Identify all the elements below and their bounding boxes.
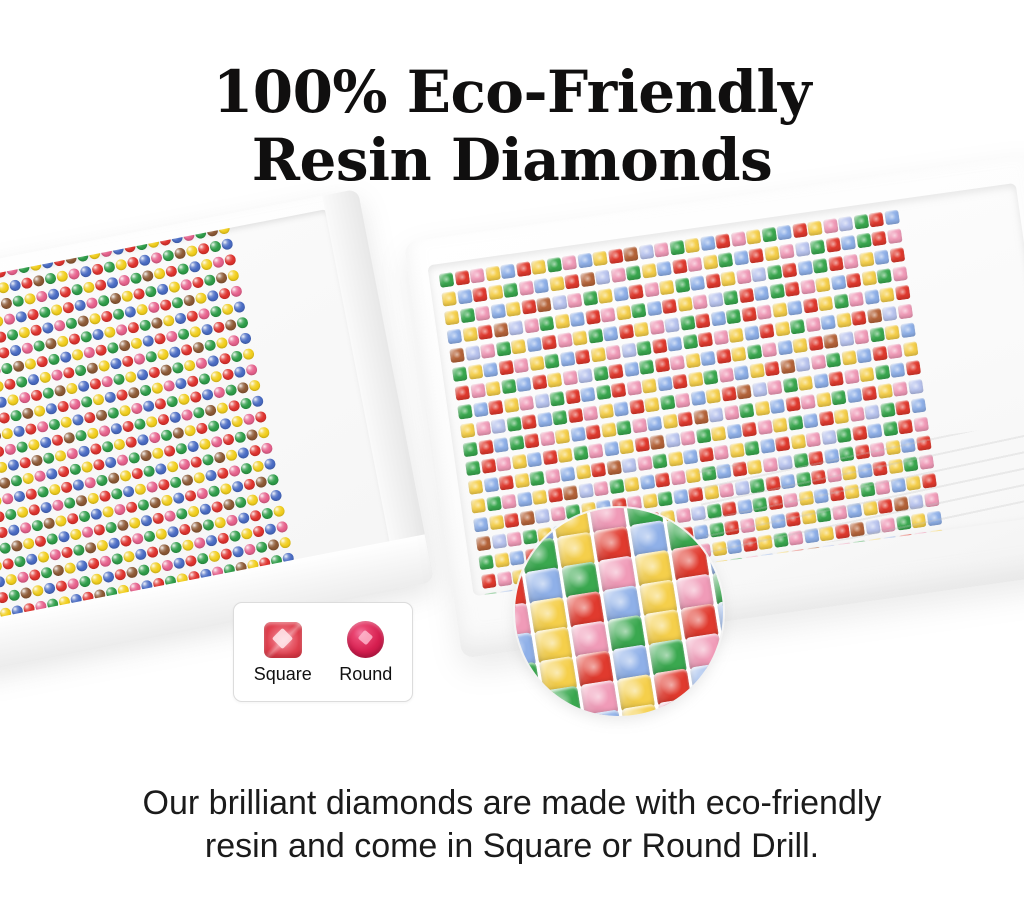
drill-bead <box>137 433 150 446</box>
drill-bead <box>792 338 808 354</box>
drill-bead <box>908 379 924 395</box>
drill-bead <box>729 442 745 458</box>
drill-bead <box>695 428 711 444</box>
drill-bead <box>820 314 836 330</box>
drill-bead <box>751 382 767 398</box>
drill-bead <box>158 543 171 556</box>
drill-bead <box>514 473 530 489</box>
drill-bead <box>684 238 700 254</box>
drill-bead <box>102 571 115 584</box>
drill-bead <box>51 369 64 382</box>
drill-bead <box>18 391 31 404</box>
drill-bead <box>694 692 723 716</box>
drill-bead <box>77 315 90 328</box>
drill-bead <box>24 292 37 305</box>
drill-bead <box>754 400 770 416</box>
drill-bead <box>515 691 546 716</box>
drill-bead <box>114 568 127 581</box>
drill-bead <box>718 252 734 268</box>
drill-bead <box>236 381 249 394</box>
drill-bead <box>748 248 764 264</box>
caption-line-1: Our brilliant diamonds are made with eco… <box>143 784 882 822</box>
drill-bead <box>792 222 808 238</box>
drill-bead <box>529 470 545 486</box>
drill-bead <box>30 324 43 337</box>
drill-bead <box>638 244 654 260</box>
product-description: Our brilliant diamonds are made with eco… <box>0 782 1024 868</box>
drill-bead <box>128 517 141 530</box>
drill-bead <box>260 442 273 455</box>
drill-bead <box>833 293 849 309</box>
drill-bead <box>480 458 496 474</box>
round-gem-icon <box>347 621 384 658</box>
drill-bead <box>662 413 678 429</box>
drill-bead <box>524 433 540 449</box>
drill-bead <box>767 379 783 395</box>
drill-bead <box>25 488 38 501</box>
drill-bead <box>547 487 563 503</box>
drill-bead <box>9 344 22 357</box>
drill-bead <box>16 441 29 454</box>
drill-bead <box>621 342 637 358</box>
drill-bead <box>161 559 174 572</box>
drill-bead <box>220 548 233 561</box>
drill-bead <box>475 420 491 436</box>
drill-bead <box>147 301 160 314</box>
drill-bead <box>20 587 33 600</box>
drill-bead <box>659 395 675 411</box>
drill-bead <box>733 250 749 266</box>
drill-bead <box>572 445 588 461</box>
drill-bead <box>15 376 28 389</box>
drill-bead <box>830 275 846 291</box>
drill-bead <box>784 281 800 297</box>
drill-bead <box>470 383 486 399</box>
drill-bead <box>856 348 872 364</box>
drill-bead <box>57 400 70 413</box>
drill-bead <box>867 423 883 439</box>
drill-bead <box>675 392 691 408</box>
drill-bead <box>10 474 23 487</box>
drill-bead <box>603 326 619 342</box>
drill-bead <box>643 282 659 298</box>
drill-bead <box>895 400 911 416</box>
drill-bead <box>59 286 72 299</box>
drill-bead <box>69 528 82 541</box>
drill-bead <box>667 451 683 467</box>
drill-bead <box>454 385 470 401</box>
drill-bead <box>47 288 60 301</box>
drill-bead <box>120 535 133 548</box>
drill-bead <box>169 476 182 489</box>
drill-bead <box>157 478 170 491</box>
drill-bead <box>90 508 103 521</box>
drill-bead <box>165 330 178 343</box>
drill-bead <box>874 364 890 380</box>
drill-bead <box>225 384 238 397</box>
drill-bead <box>89 312 102 325</box>
drill-bead <box>216 402 229 415</box>
drill-bead <box>187 440 200 453</box>
drill-bead <box>55 580 68 593</box>
drill-bead <box>457 404 473 420</box>
drill-bead <box>209 240 222 253</box>
drill-bead <box>186 375 199 388</box>
drill-bead <box>751 267 767 283</box>
drill-bead <box>868 212 884 228</box>
drill-bead <box>91 263 104 276</box>
drill-bead <box>457 289 473 305</box>
drill-bead <box>136 303 149 316</box>
drill-bead <box>249 509 262 522</box>
drill-bead <box>237 512 250 525</box>
drill-bead <box>889 247 905 263</box>
drill-bead <box>567 408 583 424</box>
drill-bead <box>48 483 61 496</box>
drill-bead <box>702 254 718 270</box>
drill-bead <box>138 254 151 267</box>
drill-bead <box>233 301 246 314</box>
drill-bead <box>98 359 111 372</box>
drill-bead <box>475 305 491 321</box>
drill-bead <box>82 281 95 294</box>
drill-bead <box>4 443 17 456</box>
drill-bead <box>866 308 882 324</box>
drill-bead <box>641 378 657 394</box>
drill-bead <box>794 241 810 257</box>
drill-bead <box>790 319 806 335</box>
drill-bead <box>761 342 777 358</box>
drill-bead <box>876 268 892 284</box>
drill-bead <box>9 279 22 292</box>
drill-bead <box>631 303 647 319</box>
drill-bead <box>231 480 244 493</box>
drill-bead <box>685 353 701 369</box>
drill-bead <box>554 428 570 444</box>
drill-bead <box>184 489 197 502</box>
drill-bead <box>48 418 61 431</box>
drill-bead <box>239 332 252 345</box>
drill-bead <box>48 353 61 366</box>
drill-bead <box>531 374 547 390</box>
drill-bead <box>276 520 289 533</box>
drill-bead <box>207 355 220 368</box>
caption-line-2: resin and come in Square or Round Drill. <box>0 825 1024 868</box>
drill-bead <box>86 362 99 375</box>
drill-bead <box>72 544 85 557</box>
drill-bead <box>270 489 283 502</box>
drill-bead <box>508 320 524 336</box>
drill-bead <box>118 274 131 287</box>
drill-bead <box>593 481 609 497</box>
drill-bead <box>503 397 519 413</box>
drill-bead <box>597 288 613 304</box>
drill-bead <box>212 321 225 334</box>
drill-bead <box>879 287 895 303</box>
drill-bead <box>818 296 834 312</box>
drill-bead <box>715 233 731 249</box>
drill-bead <box>707 292 723 308</box>
drill-bead <box>764 246 780 262</box>
drill-bead <box>162 314 175 327</box>
drill-bead <box>61 546 74 559</box>
drill-bead <box>237 447 250 460</box>
drill-bead <box>164 510 177 523</box>
drill-bead <box>109 357 122 370</box>
drill-bead <box>671 259 687 275</box>
round-drill-tray <box>0 189 434 671</box>
drill-bead <box>75 559 88 572</box>
drill-bead <box>60 416 73 429</box>
drill-bead <box>913 417 929 433</box>
drill-bead <box>128 451 141 464</box>
drill-bead <box>821 429 837 445</box>
drill-bead <box>183 359 196 372</box>
drill-bead <box>89 443 102 456</box>
drill-bead <box>725 309 741 325</box>
drill-bead <box>166 460 179 473</box>
drill-bead <box>721 386 737 402</box>
drill-bead <box>172 492 185 505</box>
drill-bead <box>96 474 109 487</box>
drill-bead <box>488 399 504 415</box>
drill-bead <box>34 535 47 548</box>
drill-bead <box>607 248 623 264</box>
drill-bead <box>229 530 242 543</box>
drill-bead <box>155 528 168 541</box>
drill-bead <box>130 272 143 285</box>
drill-bead <box>646 301 662 317</box>
drill-bead <box>487 284 503 300</box>
drill-bead <box>255 476 268 489</box>
drill-bead <box>444 310 460 326</box>
drill-bead <box>447 329 463 345</box>
drill-bead <box>649 434 665 450</box>
drill-bead <box>485 266 501 282</box>
drill-bead <box>473 517 489 533</box>
drill-bead <box>900 322 916 338</box>
drill-bead <box>168 281 181 294</box>
drill-bead <box>498 475 514 491</box>
drill-bead <box>665 432 681 448</box>
drill-bead <box>89 377 102 390</box>
drill-bead <box>58 530 71 543</box>
drill-bead <box>92 393 105 406</box>
drill-bead <box>526 452 542 468</box>
drill-bead <box>882 421 898 437</box>
drill-bead <box>50 304 63 317</box>
drill-bead <box>802 298 818 314</box>
drill-bead <box>13 490 26 503</box>
drill-bead <box>892 381 908 397</box>
drill-bead <box>539 316 555 332</box>
drill-bead <box>723 290 739 306</box>
drill-bead <box>240 462 253 475</box>
drill-bead <box>695 313 711 329</box>
drill-bead <box>193 537 206 550</box>
drill-bead <box>864 404 880 420</box>
drill-bead <box>757 419 773 435</box>
drill-bead <box>705 273 721 289</box>
drill-bead <box>116 389 129 402</box>
drill-bead <box>121 290 134 303</box>
drill-bead <box>37 551 50 564</box>
drill-bead <box>743 325 759 341</box>
drill-bead <box>615 305 631 321</box>
drill-bead <box>562 485 578 501</box>
drill-bead <box>687 256 703 272</box>
drill-bead <box>483 477 499 493</box>
drill-bead <box>192 276 205 289</box>
drill-bead <box>189 325 202 338</box>
drill-bead <box>22 472 35 485</box>
drill-bead <box>80 395 93 408</box>
drill-bead <box>649 319 665 335</box>
drill-bead <box>785 396 801 412</box>
drill-bead <box>240 527 253 540</box>
drill-bead <box>87 557 100 570</box>
drill-bead <box>107 472 120 485</box>
drill-bead <box>214 516 227 529</box>
drill-bead <box>825 352 841 368</box>
drill-bead <box>808 335 824 351</box>
drill-bead <box>490 303 506 319</box>
drill-bead <box>677 411 693 427</box>
drill-bead <box>203 274 216 287</box>
drill-shape-legend[interactable]: Square Round <box>233 602 413 702</box>
drill-bead <box>143 465 156 478</box>
drill-bead <box>840 235 856 251</box>
drill-bead <box>162 249 175 262</box>
legend-item-round[interactable]: Round <box>339 621 392 683</box>
drill-bead <box>95 344 108 357</box>
drill-bead <box>116 454 129 467</box>
drill-bead <box>700 235 716 251</box>
drill-bead <box>634 437 650 453</box>
drill-bead <box>774 321 790 337</box>
drill-bead <box>33 340 46 353</box>
drill-bead <box>246 494 259 507</box>
drill-bead <box>633 321 649 337</box>
drill-bead <box>708 407 724 423</box>
drill-bead <box>598 403 614 419</box>
drill-bead <box>618 324 634 340</box>
drill-bead <box>175 442 188 455</box>
drill-bead <box>146 546 159 559</box>
drill-bead <box>605 345 621 361</box>
drill-bead <box>496 571 512 587</box>
drill-bead <box>177 328 190 341</box>
drill-bead <box>139 319 152 332</box>
drill-bead <box>483 362 499 378</box>
drill-bead <box>168 346 181 359</box>
drill-bead <box>583 405 599 421</box>
drill-bead <box>36 355 49 368</box>
drill-bead <box>712 568 723 607</box>
drill-bead <box>113 373 126 386</box>
drill-bead <box>519 395 535 411</box>
drill-bead <box>485 381 501 397</box>
drill-bead <box>723 405 739 421</box>
drill-bead <box>849 406 865 422</box>
drill-bead <box>193 471 206 484</box>
drill-bead <box>25 553 38 566</box>
drill-bead <box>861 385 877 401</box>
drill-bead <box>85 297 98 310</box>
drill-bead <box>180 343 193 356</box>
drill-bead <box>74 299 87 312</box>
drill-bead <box>772 417 788 433</box>
drill-bead <box>130 402 143 415</box>
drill-bead <box>65 382 78 395</box>
drill-bead <box>109 292 122 305</box>
drill-bead <box>232 545 245 558</box>
drill-bead <box>6 328 19 341</box>
drill-bead <box>552 410 568 426</box>
drill-bead <box>7 524 20 537</box>
drill-bead <box>505 301 521 317</box>
drill-bead <box>215 271 228 284</box>
drill-bead <box>564 274 580 290</box>
drill-bead <box>243 478 256 491</box>
drill-bead <box>590 347 606 363</box>
drill-bead <box>24 423 37 436</box>
legend-item-square[interactable]: Square <box>254 622 312 683</box>
drill-bead <box>654 357 670 373</box>
drill-bead <box>178 458 191 471</box>
drill-bead <box>145 415 158 428</box>
drill-bead <box>40 566 53 579</box>
drill-bead <box>490 418 506 434</box>
drill-bead <box>92 328 105 341</box>
drill-bead <box>202 453 215 466</box>
drill-bead <box>197 242 210 255</box>
drill-bead <box>115 258 128 271</box>
drill-bead <box>629 399 645 415</box>
drill-bead <box>110 422 123 435</box>
drill-bead <box>148 366 161 379</box>
drill-bead <box>810 239 826 255</box>
drill-bead <box>17 571 30 584</box>
drill-bead <box>661 298 677 314</box>
drill-bead <box>611 382 627 398</box>
drill-bead <box>481 573 497 589</box>
drill-bead <box>33 405 46 418</box>
drill-bead <box>185 555 198 568</box>
drill-bead <box>45 467 58 480</box>
product-photo-stage <box>0 200 1024 770</box>
drill-bead <box>60 481 73 494</box>
drill-bead <box>161 494 174 507</box>
drill-bead <box>31 584 44 597</box>
drill-bead <box>83 411 96 424</box>
drill-bead <box>537 412 553 428</box>
drill-bead <box>902 341 918 357</box>
drill-bead <box>593 366 609 382</box>
drill-bead <box>93 523 106 536</box>
drill-bead <box>258 491 271 504</box>
drill-bead <box>8 589 21 602</box>
drill-bead <box>680 430 696 446</box>
drill-bead <box>186 310 199 323</box>
drill-bead <box>861 270 877 286</box>
drill-bead <box>104 456 117 469</box>
drill-bead <box>659 280 675 296</box>
drill-bead <box>506 416 522 432</box>
drill-bead <box>19 456 32 469</box>
drill-bead <box>167 525 180 538</box>
drill-bead <box>846 272 862 288</box>
